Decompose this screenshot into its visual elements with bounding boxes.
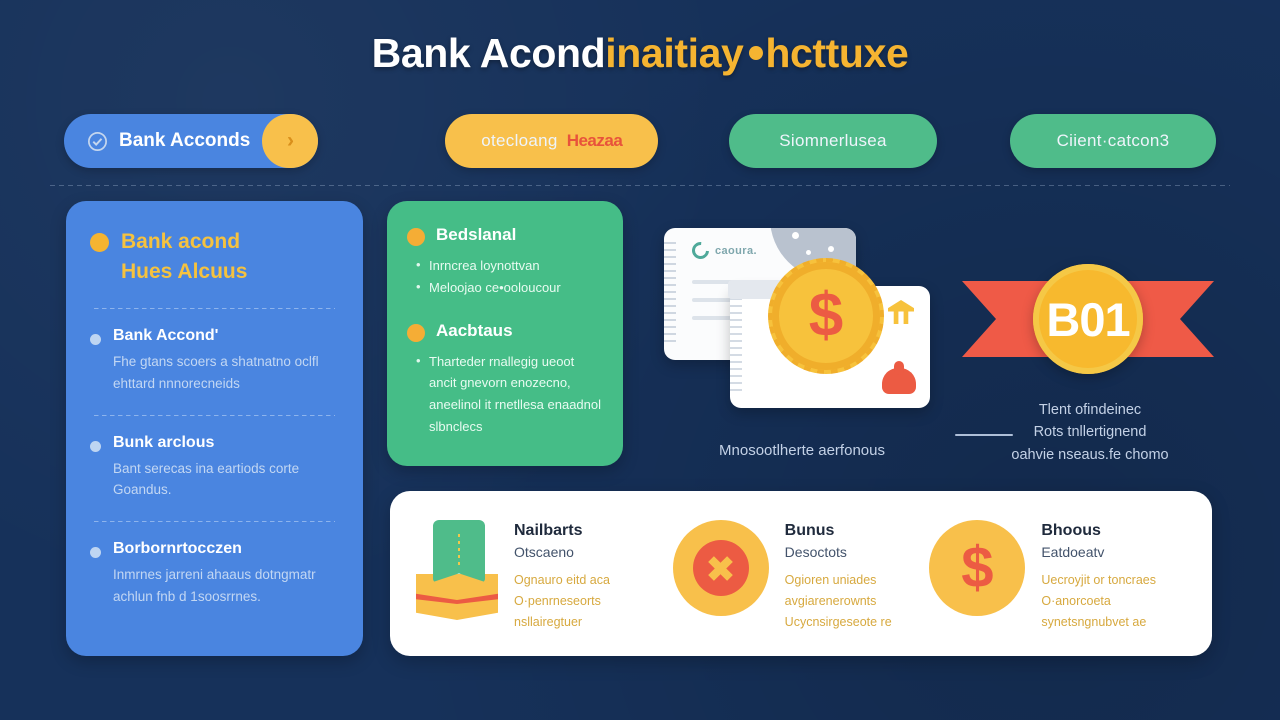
pill-nav: Bank Acconds › otecloang Heazaa Siomnerl… xyxy=(64,114,1216,168)
pill-label: otecloang xyxy=(481,131,557,151)
divider xyxy=(94,415,335,416)
bank-building-icon xyxy=(888,300,914,324)
feature-subtitle: Eatdoeatv xyxy=(1041,544,1156,560)
stacked-layers-icon xyxy=(416,520,498,626)
feature-subtitle: Otscaeno xyxy=(514,544,610,560)
blue-heading-line-2: Hues Alcuus xyxy=(121,257,247,287)
feature-item-bhoous[interactable]: $ Bhoous Eatdoeatv Uecroyjit or toncraes… xyxy=(929,514,1186,633)
perforated-edge xyxy=(664,242,676,346)
pill-label: Bank Acconds xyxy=(119,130,250,152)
feature-panel: Nailbarts Otscaeno Ognauro eitd aca O·pe… xyxy=(390,491,1212,656)
bullet-dot-icon xyxy=(90,233,109,252)
bullet-dot-icon xyxy=(407,228,425,246)
feature-line-2: avgiarenerownts xyxy=(785,591,892,612)
feature-lines: Uecroyjit or toncraes O·anorcoeta synets… xyxy=(1041,570,1156,633)
list-item-body: Inmrnes jarreni ahaaus dotngmatr achlun … xyxy=(113,564,339,608)
green-section-1-bullets: Inrncrea loynottvan Meloojao ce•ooloucou… xyxy=(415,255,603,299)
dollar-circle-icon: $ xyxy=(929,520,1025,616)
feature-line-1: Ogioren uniades xyxy=(785,570,892,591)
list-item-body: Fhe gtans scoers a shatnatno oclfl ehtta… xyxy=(113,351,339,395)
illustration-caption: Mnosootlherte aerfonous xyxy=(656,442,948,459)
blue-info-card: Bank acond Hues Alcuus Bank Accond' Fhe … xyxy=(66,201,363,656)
blue-heading-line-1: Bank acond xyxy=(121,227,247,257)
feature-item-nailbarts[interactable]: Nailbarts Otscaeno Ognauro eitd aca O·pe… xyxy=(416,514,673,633)
x-mark-icon xyxy=(702,549,740,587)
hand-icon xyxy=(882,368,916,394)
list-item[interactable]: Bunk arclous Bant serecas ina eartiods c… xyxy=(90,434,339,502)
feature-line-3: Ucycnsirgeseote re xyxy=(785,612,892,633)
bullet-dot-icon xyxy=(90,441,101,452)
layer-book xyxy=(433,520,485,582)
badge-caption-line-3: oahvie nseaus.fe chomo xyxy=(955,444,1225,466)
sparkle-dot-icon xyxy=(806,250,811,255)
verified-check-icon xyxy=(86,130,109,153)
green-section-2-paragraph: Tharteder rnallegig ueoot ancit gnevorn … xyxy=(415,351,603,438)
pill-label-accent: Heazaa xyxy=(567,131,623,151)
feature-line-2: O·penrneseorts xyxy=(514,591,610,612)
bullet-item: Inrncrea loynottvan xyxy=(415,255,603,277)
heading-label: Bedslanal xyxy=(436,225,516,245)
feature-subtitle: Desoctots xyxy=(785,544,892,560)
sparkle-dot-icon xyxy=(828,246,834,252)
pill-siomnerlusea[interactable]: Siomnerlusea xyxy=(729,114,937,168)
x-mark-circle-icon xyxy=(673,520,769,616)
pill-bank-acconds[interactable]: Bank Acconds › xyxy=(64,114,318,168)
chevron-right-icon[interactable]: › xyxy=(262,114,318,168)
feature-line-1: Ognauro eitd aca xyxy=(514,570,610,591)
feature-lines: Ogioren uniades avgiarenerownts Ucycnsir… xyxy=(785,570,892,633)
dollar-coin-icon: $ xyxy=(772,262,880,370)
blue-card-heading: Bank acond Hues Alcuus xyxy=(90,227,339,288)
inner-circle xyxy=(693,540,749,596)
feature-line-3: nsllairegtuer xyxy=(514,612,610,633)
logo-mark-icon xyxy=(689,239,713,263)
ribbon-badge: B01 xyxy=(962,264,1214,374)
perforated-edge xyxy=(730,298,742,396)
feature-lines: Ognauro eitd aca O·penrneseorts nsllaire… xyxy=(514,570,610,633)
feature-title: Bunus xyxy=(785,522,892,540)
page-title-part-3: hcttuxe xyxy=(765,30,908,76)
bullet-dot-icon xyxy=(90,547,101,558)
bullet-dot-icon xyxy=(407,324,425,342)
bank-cards-illustration: caoura. $ xyxy=(656,228,948,408)
page-title: Bank Acondinaitiayhcttuxe xyxy=(0,30,1280,77)
divider xyxy=(94,308,335,309)
title-dot-icon xyxy=(749,46,763,60)
list-item[interactable]: Bank Accond' Fhe gtans scoers a shatnatn… xyxy=(90,327,339,395)
list-item-title: Borbornrtocczen xyxy=(113,540,339,558)
feature-line-3: synetsngnubvet ae xyxy=(1041,612,1156,633)
bullet-dot-icon xyxy=(90,334,101,345)
green-info-card: Bedslanal Inrncrea loynottvan Meloojao c… xyxy=(387,201,623,466)
list-item[interactable]: Borbornrtocczen Inmrnes jarreni ahaaus d… xyxy=(90,540,339,608)
header-divider xyxy=(50,185,1230,186)
spacer xyxy=(407,299,603,321)
logo-text: caoura. xyxy=(715,245,757,257)
page-title-part-2: inaitiay xyxy=(605,30,743,76)
list-item-title: Bunk arclous xyxy=(113,434,339,452)
badge-caption-line-1: Tlent ofindeinec xyxy=(955,399,1225,421)
feature-title: Bhoous xyxy=(1041,522,1156,540)
bullet-item: Meloojao ce•ooloucour xyxy=(415,277,603,299)
feature-item-bunus[interactable]: Bunus Desoctots Ogioren uniades avgiaren… xyxy=(673,514,930,633)
badge-caption-line-2: Rots tnllertignend xyxy=(955,421,1225,443)
sparkle-dot-icon xyxy=(792,232,799,239)
badge-caption: Tlent ofindeinec Rots tnllertignend oahv… xyxy=(955,399,1225,466)
pill-otecloang[interactable]: otecloang Heazaa xyxy=(445,114,658,168)
feature-title: Nailbarts xyxy=(514,522,610,540)
list-item-body: Bant serecas ina eartiods corte Goandus. xyxy=(113,458,339,502)
heading-label: Aacbtaus xyxy=(436,321,513,341)
divider xyxy=(94,521,335,522)
feature-line-1: Uecroyjit or toncraes xyxy=(1041,570,1156,591)
pill-client-catcon[interactable]: Ciient·catcon3 xyxy=(1010,114,1216,168)
pill-label: Siomnerlusea xyxy=(779,131,887,151)
badge-value: B01 xyxy=(1033,264,1143,374)
pill-label: Ciient·catcon3 xyxy=(1057,131,1170,151)
green-section-1-heading: Bedslanal xyxy=(407,225,603,246)
dollar-sign-icon: $ xyxy=(961,539,993,597)
feature-line-2: O·anorcoeta xyxy=(1041,591,1156,612)
card-logo: caoura. xyxy=(692,242,757,259)
green-section-2-heading: Aacbtaus xyxy=(407,321,603,342)
list-item-title: Bank Accond' xyxy=(113,327,339,345)
page-title-part-1: Bank Acond xyxy=(372,30,606,76)
